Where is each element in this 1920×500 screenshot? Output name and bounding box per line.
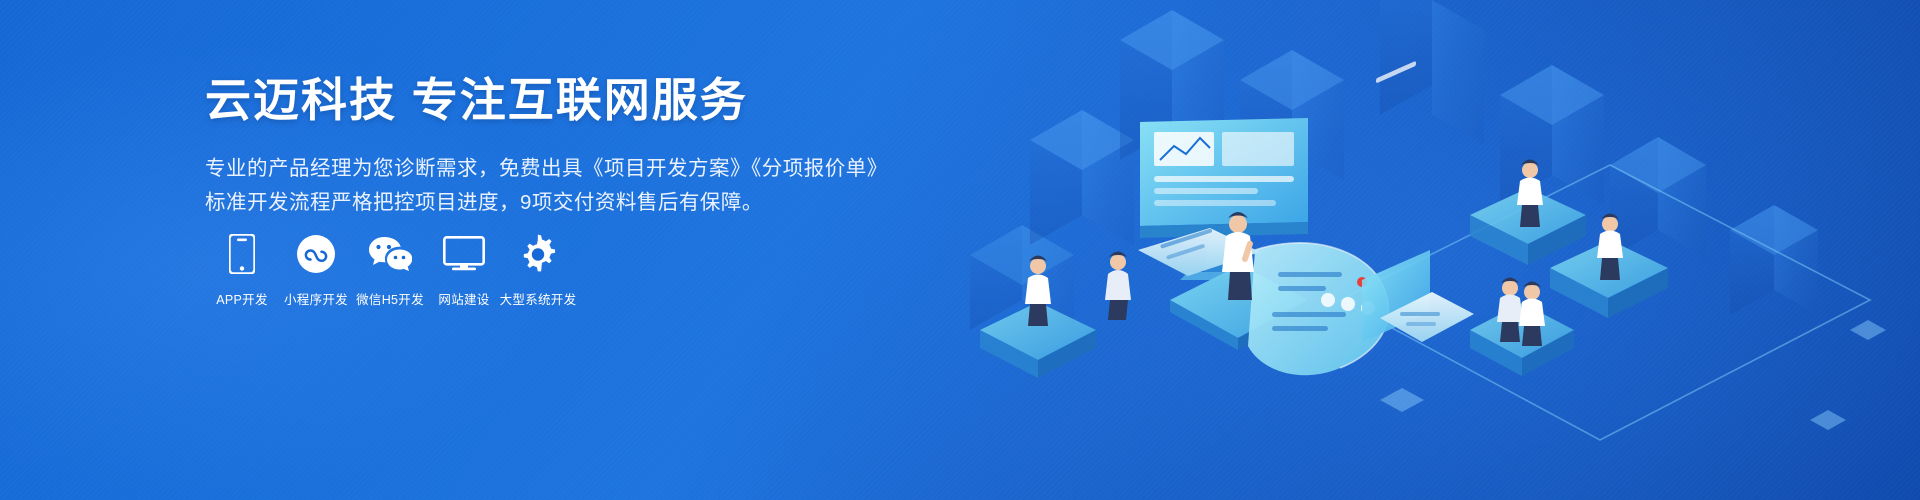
service-item-app[interactable]: APP开发 xyxy=(205,232,279,308)
page-title: 云迈科技 专注互联网服务 xyxy=(205,72,925,130)
hero-banner: 云迈科技 专注互联网服务 专业的产品经理为您诊断需求，免费出具《项目开发方案》《… xyxy=(0,0,1920,500)
mobile-phone-icon xyxy=(229,232,255,276)
hero-subtitle-line-1: 专业的产品经理为您诊断需求，免费出具《项目开发方案》《分项报价单》 xyxy=(205,152,925,185)
wechat-icon xyxy=(368,232,412,276)
service-item-wechat-h5[interactable]: 微信H5开发 xyxy=(353,232,427,308)
service-list: APP开发 小程序开发 微信 xyxy=(205,232,575,308)
service-label: APP开发 xyxy=(216,289,268,308)
gear-icon xyxy=(518,232,558,276)
service-label: 微信H5开发 xyxy=(356,289,424,308)
service-label: 网站建设 xyxy=(438,289,489,308)
service-item-large-system[interactable]: 大型系统开发 xyxy=(501,232,575,308)
hero-subtitle: 专业的产品经理为您诊断需求，免费出具《项目开发方案》《分项报价单》 标准开发流程… xyxy=(205,152,925,219)
service-label: 大型系统开发 xyxy=(500,289,577,308)
service-label: 小程序开发 xyxy=(284,289,348,308)
service-item-website[interactable]: 网站建设 xyxy=(427,232,501,308)
hero-text-block: 云迈科技 专注互联网服务 专业的产品经理为您诊断需求，免费出具《项目开发方案》《… xyxy=(205,72,925,220)
mini-program-icon xyxy=(297,232,335,276)
hero-subtitle-line-2: 标准开发流程严格把控项目进度，9项交付资料售后有保障。 xyxy=(205,186,925,219)
monitor-icon xyxy=(443,232,485,276)
service-item-miniprogram[interactable]: 小程序开发 xyxy=(279,232,353,308)
illustration xyxy=(910,0,1920,500)
